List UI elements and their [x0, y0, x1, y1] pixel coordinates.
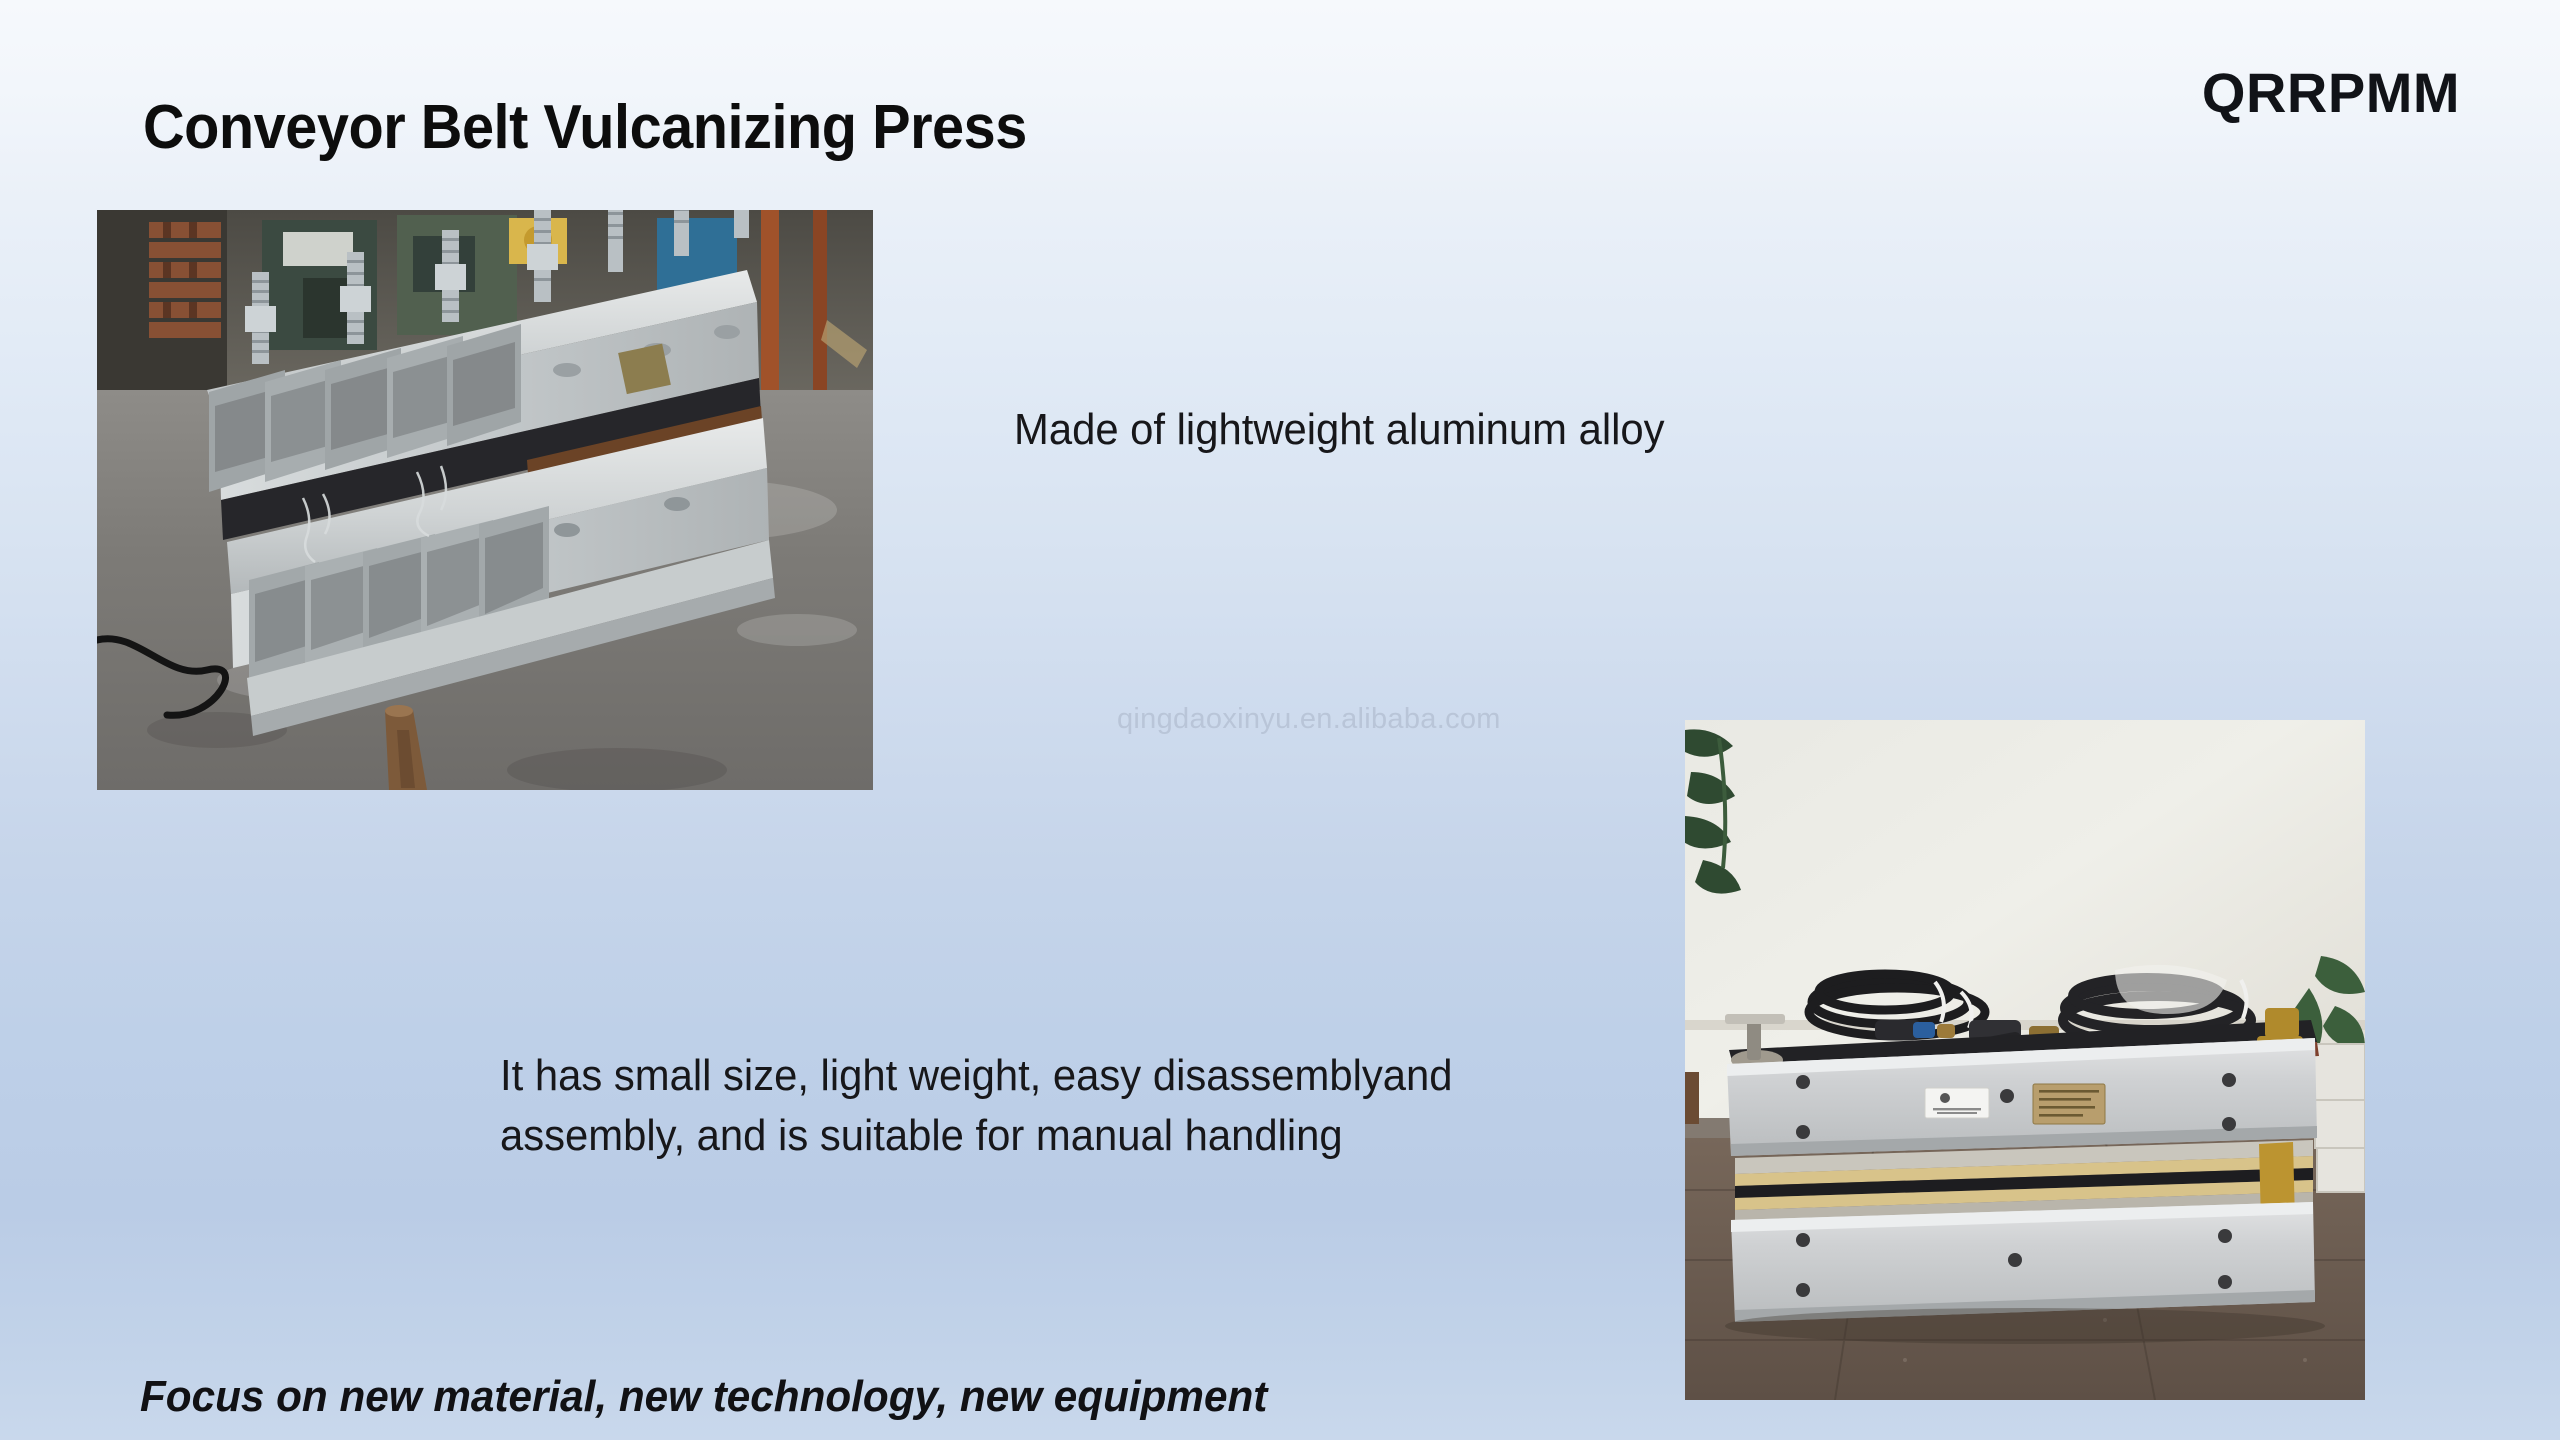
watermark-url: qingdaoxinyu.en.alibaba.com — [1117, 702, 1501, 736]
image-press-unit — [1685, 720, 2365, 1400]
presentation-slide: Conveyor Belt Vulcanizing Press QRRPMM — [0, 0, 2560, 1440]
page-title: Conveyor Belt Vulcanizing Press — [143, 92, 1027, 164]
feature-text-portability: It has small size, light weight, easy di… — [500, 1046, 1536, 1166]
brand-logo: QRRPMM — [2202, 62, 2460, 124]
footer-slogan: Focus on new material, new technology, n… — [140, 1370, 1267, 1424]
feature-text-line-1: It has small size, light weight, easy di… — [500, 1046, 1536, 1106]
feature-text-material: Made of lightweight aluminum alloy — [1014, 402, 1665, 458]
image-workshop-press — [97, 210, 873, 790]
feature-text-line-2: assembly, and is suitable for manual han… — [500, 1106, 1536, 1166]
